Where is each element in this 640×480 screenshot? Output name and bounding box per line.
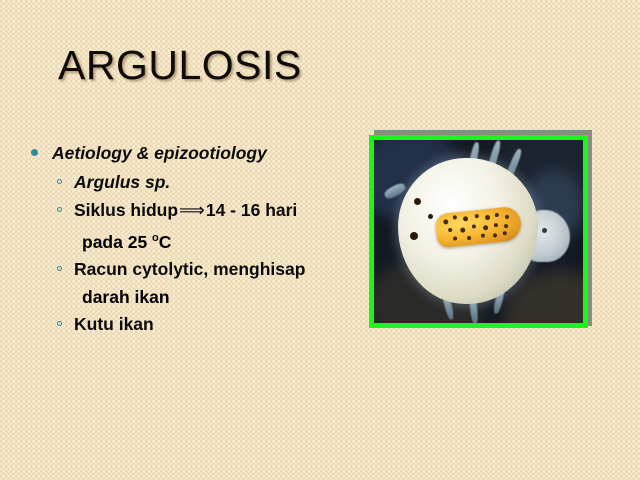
carapace-lobe (522, 210, 570, 262)
list-item: Argulus sp. (26, 169, 356, 196)
list-item: Siklus hidup⟹14 - 16 hari (26, 197, 356, 224)
list-item-label: Argulus sp. (74, 172, 170, 192)
temperature-unit: C (159, 232, 172, 252)
temperature-label: pada 25 (82, 232, 152, 252)
bullet-list: Aetiology & epizootiology Argulus sp. Si… (26, 140, 356, 339)
list-item-label-before-arrow: Siklus hidup (74, 200, 178, 220)
bullet-dot-icon (31, 149, 38, 156)
carapace (398, 158, 538, 304)
list-item-label: Kutu ikan (74, 314, 154, 334)
figure-frame (369, 135, 588, 328)
list-item: Racun cytolytic, menghisap (26, 256, 356, 283)
page-title: ARGULOSIS (58, 42, 302, 89)
list-item: Kutu ikan (26, 311, 356, 338)
bullet-circle-icon (57, 321, 62, 326)
degree-symbol: o (152, 232, 159, 244)
list-item-continuation: pada 25 oC (26, 225, 356, 256)
list-item-label: Racun cytolytic, menghisap (74, 259, 305, 279)
bullet-circle-icon (57, 266, 62, 271)
bullet-circle-icon (57, 179, 62, 184)
list-item-label-after-arrow: 14 - 16 hari (206, 200, 297, 220)
list-item: Aetiology & epizootiology (26, 140, 356, 166)
slide-canvas: ARGULOSIS Aetiology & epizootiology Argu… (0, 0, 640, 480)
bullet-circle-icon (57, 207, 62, 212)
argulus-photo (374, 140, 583, 323)
list-item-continuation: darah ikan (26, 284, 356, 311)
list-item-label: darah ikan (82, 287, 170, 307)
double-arrow-icon: ⟹ (178, 200, 206, 220)
parasite-body (434, 206, 522, 249)
list-item-label: Aetiology & epizootiology (52, 143, 267, 163)
